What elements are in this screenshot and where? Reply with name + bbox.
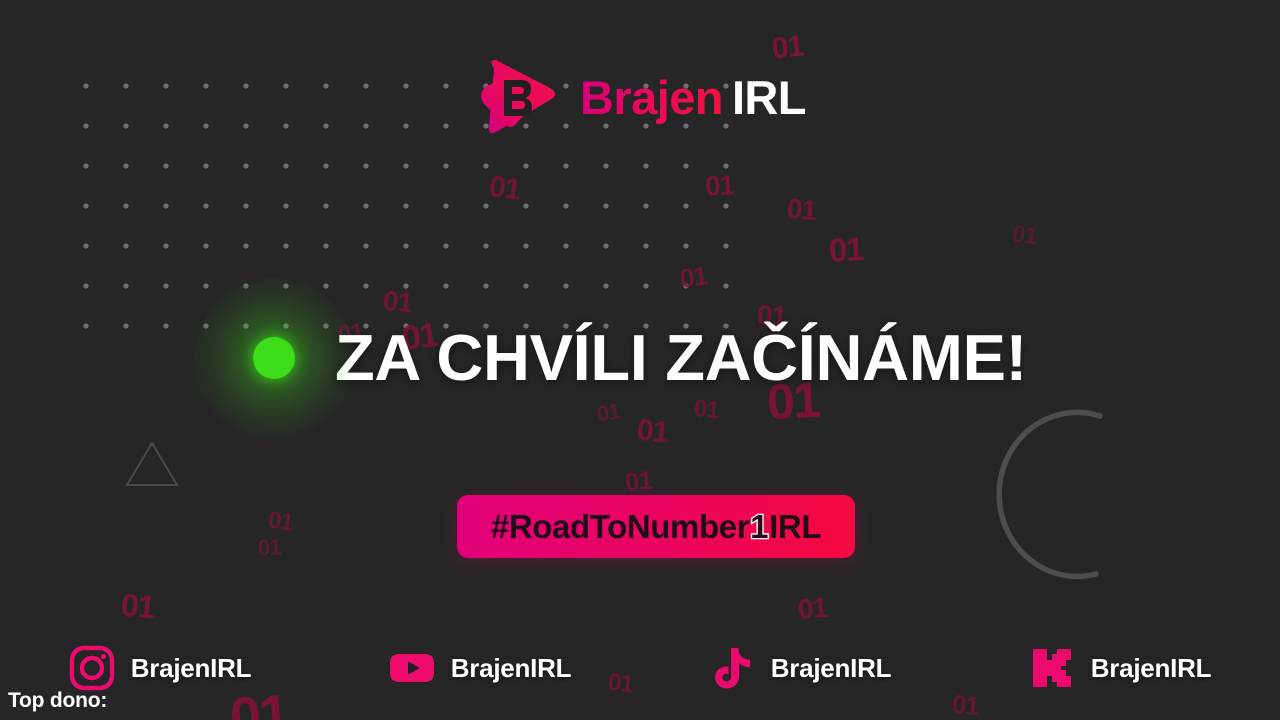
brand-wordmark: BrajenIRL [580,74,806,121]
decorative-number: 01 [1010,220,1038,251]
decorative-number: 01 [119,587,155,627]
social-handle: BrajenIRL [451,655,571,681]
social-links-bar: BrajenIRL BrajenIRL BrajenIRL BrajenIRL [0,645,1280,691]
brand-suffix: IRL [732,71,806,124]
social-handle: BrajenIRL [131,655,251,681]
social-item-instagram[interactable]: BrajenIRL [0,645,320,691]
headline-row: ZA CHVÍLI ZAČÍNÁME! [0,325,1280,390]
decorative-number: 01 [381,285,413,320]
page-title: ZA CHVÍLI ZAČÍNÁME! [335,325,1027,390]
decorative-number: 01 [623,465,653,499]
hashtag-text: #RoadToNumber1IRL [491,510,821,543]
kick-icon [1029,645,1075,691]
decorative-number: 01 [951,689,980,720]
triangle-outline-decoration [124,440,180,488]
social-item-kick[interactable]: BrajenIRL [960,645,1280,691]
decorative-number: 01 [828,230,865,270]
decorative-number: 01 [678,260,709,294]
top-donor-label: Top dono: [8,690,107,711]
decorative-number: 01 [595,398,622,427]
social-handle: BrajenIRL [1091,655,1211,681]
brajen-play-logo-icon [474,58,566,136]
decorative-number: 01 [487,170,522,208]
social-item-youtube[interactable]: BrajenIRL [320,645,640,691]
social-handle: BrajenIRL [771,655,891,681]
brand-header: BrajenIRL [0,58,1280,136]
decorative-number: 01 [257,534,281,562]
live-indicator [253,337,295,379]
arc-outline-decoration [994,402,1120,588]
stream-starting-soon-overlay: 0101010101010101010101010101010101010101… [0,0,1280,720]
decorative-number: 01 [797,592,829,626]
hashtag-prefix: #RoadToNumber [491,510,749,543]
tiktok-icon [709,645,755,691]
decorative-number: 01 [635,413,669,450]
hashtag-number: 1 [750,510,768,543]
instagram-icon [69,645,115,691]
hashtag-suffix: IRL [769,510,821,543]
decorative-number: 01 [693,395,720,425]
live-dot-icon [253,337,295,379]
decorative-number: 01 [266,506,294,537]
brand-name: Brajen [580,71,723,124]
decorative-number: 01 [786,193,818,227]
social-item-tiktok[interactable]: BrajenIRL [640,645,960,691]
hashtag-badge: #RoadToNumber1IRL [457,495,855,558]
youtube-icon [389,645,435,691]
decorative-number: 01 [704,169,735,202]
